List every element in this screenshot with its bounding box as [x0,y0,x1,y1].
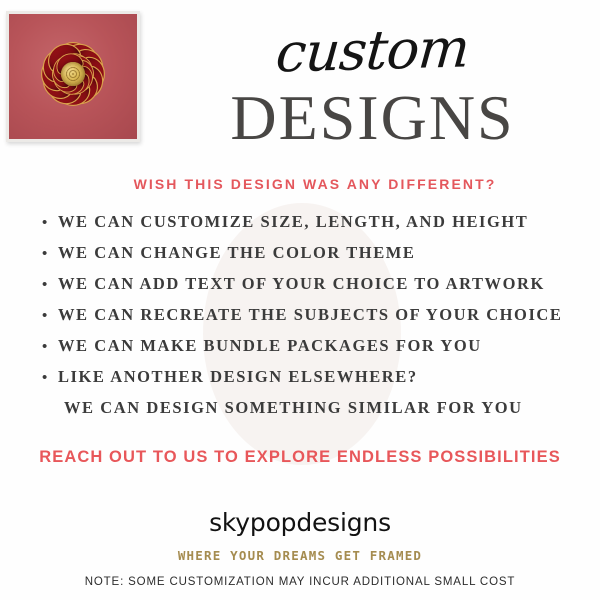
bullet-icon: • [42,277,58,292]
feature-list: •WE CAN CUSTOMIZE SIZE, LENGTH, AND HEIG… [42,212,587,429]
list-item: •LIKE ANOTHER DESIGN ELSEWHERE? [42,367,587,398]
page-title: DESIGNS [145,84,600,151]
list-item-label: WE CAN CUSTOMIZE SIZE, LENGTH, AND HEIGH… [58,212,528,232]
flower-core-icon [61,62,85,86]
list-item-label: WE CAN RECREATE THE SUBJECTS OF YOUR CHO… [58,305,562,325]
disclaimer-note: NOTE: SOME CUSTOMIZATION MAY INCUR ADDIT… [0,576,600,588]
list-item: •WE CAN CUSTOMIZE SIZE, LENGTH, AND HEIG… [42,212,587,243]
list-item: •WE CAN ADD TEXT OF YOUR CHOICE TO ARTWO… [42,274,587,305]
bullet-icon: • [42,308,58,323]
brand-tagline: WHERE YOUR DREAMS GET FRAMED [0,548,600,563]
script-title: custom [142,18,600,84]
subheading-question: WISH THIS DESIGN WAS ANY DIFFERENT? [110,176,520,192]
list-item: •WE CAN DESIGN SOMETHING SIMILAR FOR YOU [42,398,587,429]
bullet-icon: • [42,246,58,261]
list-item-label: LIKE ANOTHER DESIGN ELSEWHERE? [58,367,418,387]
list-item-label: WE CAN MAKE BUNDLE PACKAGES FOR YOU [58,336,482,356]
list-item: •WE CAN MAKE BUNDLE PACKAGES FOR YOU [42,336,587,367]
poster-heading: custom DESIGNS [145,24,600,151]
list-item: •WE CAN RECREATE THE SUBJECTS OF YOUR CH… [42,305,587,336]
brand-name: skypopdesigns [0,508,600,537]
custom-designs-promo-poster: custom DESIGNS WISH THIS DESIGN WAS ANY … [0,0,600,600]
red-dahlia-flower-icon [21,22,125,126]
framed-flower-artwork [6,11,140,142]
list-item-label: WE CAN DESIGN SOMETHING SIMILAR FOR YOU [58,398,523,418]
call-to-action-text: REACH OUT TO US TO EXPLORE ENDLESS POSSI… [0,448,600,467]
bullet-icon: • [42,370,58,385]
list-item: •WE CAN CHANGE THE COLOR THEME [42,243,587,274]
artwork-canvas [9,14,137,139]
list-item-label: WE CAN CHANGE THE COLOR THEME [58,243,415,263]
bullet-icon: • [42,215,58,230]
bullet-icon: • [42,339,58,354]
list-item-label: WE CAN ADD TEXT OF YOUR CHOICE TO ARTWOR… [58,274,545,294]
